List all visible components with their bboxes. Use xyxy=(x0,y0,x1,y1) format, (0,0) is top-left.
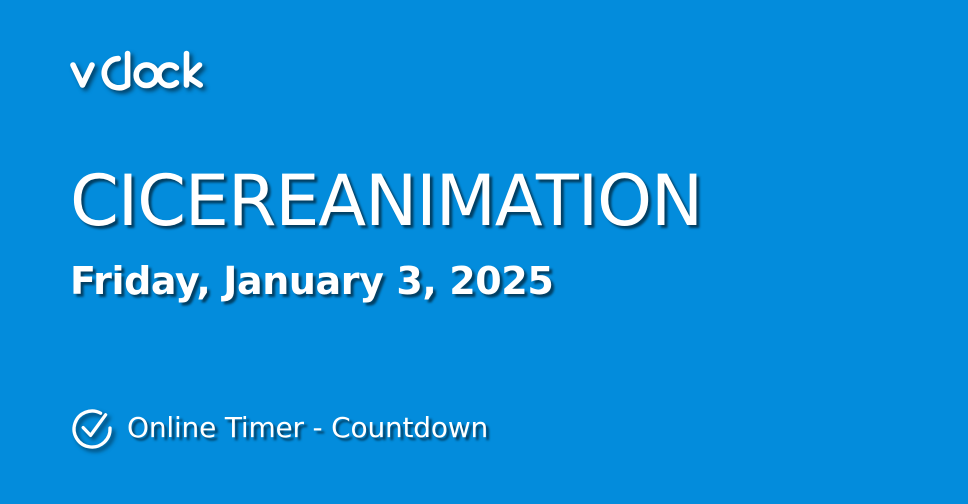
online-timer-countdown-label: Online Timer - Countdown xyxy=(127,414,488,442)
brand-logo[interactable]: vClock xyxy=(70,50,330,106)
vclock-logo-icon xyxy=(70,50,230,100)
online-timer-countdown-link[interactable]: Online Timer - Countdown xyxy=(70,406,488,450)
brand-name-text: vClock xyxy=(70,100,71,101)
clock-check-icon xyxy=(70,406,114,450)
page-root: vClock CICEREANIMATION Friday, January 3… xyxy=(0,0,968,504)
event-date: Friday, January 3, 2025 xyxy=(70,262,553,302)
page-title: CICEREANIMATION xyxy=(70,166,702,236)
